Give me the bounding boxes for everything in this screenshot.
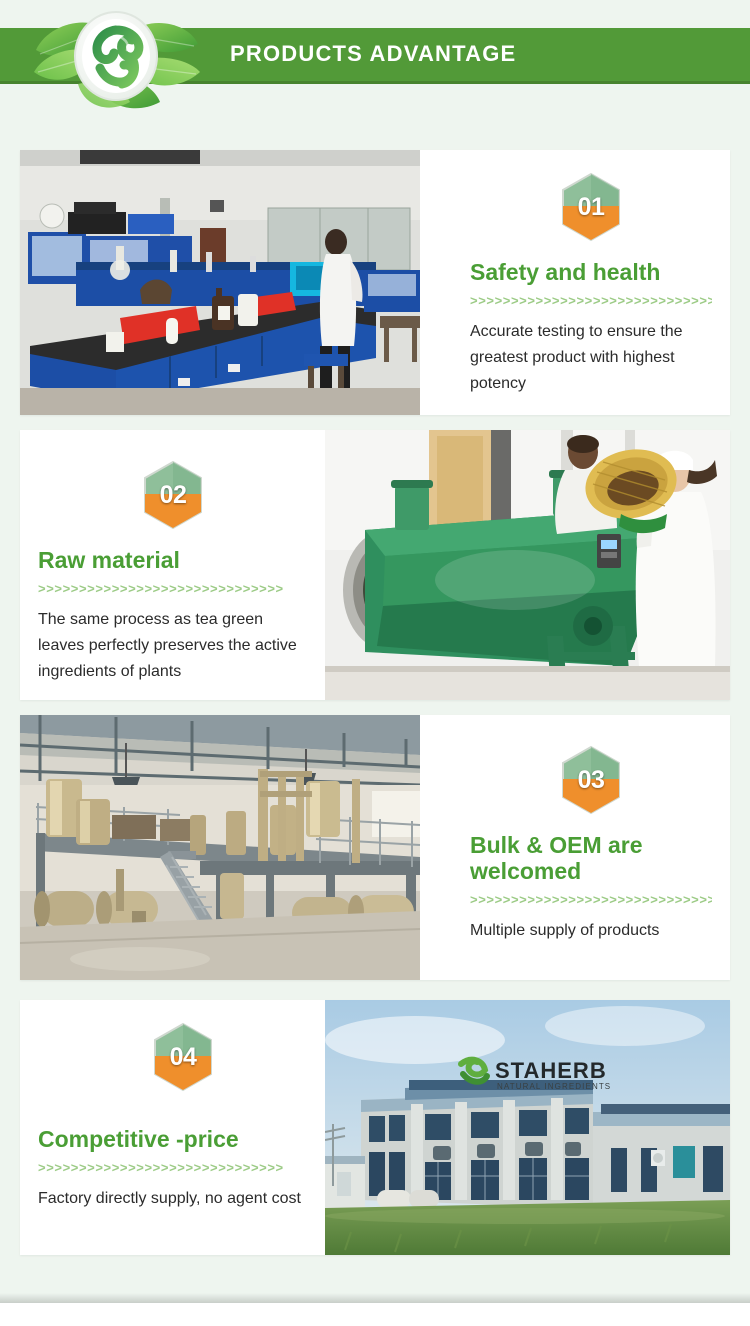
tea-roasting-machine-photo <box>325 430 730 700</box>
laboratory-testing-photo <box>20 150 420 415</box>
advantage-row-4: STAHERB NATURAL INGREDIENTS <box>20 1000 730 1255</box>
advantage-panel-2: 02 Raw material >>>>>>>>>>>>>>>>>>>>>>>>… <box>20 430 325 685</box>
advantage-body-3: Multiple supply of products <box>470 918 712 944</box>
step-badge-1: 01 <box>560 172 622 242</box>
step-number-2: 02 <box>142 460 204 530</box>
advantage-title-3: Bulk & OEM are welcomed <box>470 832 712 884</box>
advantage-title-4: Competitive -price <box>38 1126 305 1152</box>
extraction-workshop-photo <box>20 715 420 980</box>
advantage-panel-4: 04 Competitive -price >>>>>>>>>>>>>>>>>>… <box>20 1000 325 1212</box>
staherb-leaf-logo <box>28 6 218 116</box>
svg-text:NATURAL INGREDIENTS: NATURAL INGREDIENTS <box>497 1082 611 1091</box>
step-badge-4: 04 <box>152 1022 214 1092</box>
advantage-body-1: Accurate testing to ensure the greatest … <box>470 319 712 397</box>
svg-text:STAHERB: STAHERB <box>495 1058 607 1083</box>
advantage-card-4: STAHERB NATURAL INGREDIENTS <box>20 1000 730 1255</box>
step-number-1: 01 <box>560 172 622 242</box>
step-badge-2: 02 <box>142 460 204 530</box>
chevron-divider-3: >>>>>>>>>>>>>>>>>>>>>>>>>>>>>> <box>470 893 712 906</box>
step-number-3: 03 <box>560 745 622 815</box>
chevron-divider-2: >>>>>>>>>>>>>>>>>>>>>>>>>>>>>> <box>38 582 305 595</box>
chevron-divider-1: >>>>>>>>>>>>>>>>>>>>>>>>>>>>>> <box>470 294 712 307</box>
page-header: PRODUCTS ADVANTAGE <box>0 0 750 118</box>
advantage-row-2: 02 Raw material >>>>>>>>>>>>>>>>>>>>>>>>… <box>20 430 730 700</box>
advantage-panel-3: 03 Bulk & OEM are welcomed >>>>>>>>>>>>>… <box>440 715 730 944</box>
factory-building-photo: STAHERB NATURAL INGREDIENTS <box>325 1000 730 1255</box>
advantage-row-1: 01 Safety and health >>>>>>>>>>>>>>>>>>>… <box>20 150 730 415</box>
advantage-title-2: Raw material <box>38 547 305 573</box>
step-number-4: 04 <box>152 1022 214 1092</box>
chevron-divider-4: >>>>>>>>>>>>>>>>>>>>>>>>>>>>>> <box>38 1161 305 1174</box>
advantage-card-3: 03 Bulk & OEM are welcomed >>>>>>>>>>>>>… <box>20 715 730 980</box>
advantage-row-3: 03 Bulk & OEM are welcomed >>>>>>>>>>>>>… <box>20 715 730 980</box>
advantage-body-4: Factory directly supply, no agent cost <box>38 1186 305 1212</box>
page-title: PRODUCTS ADVANTAGE <box>230 41 516 67</box>
advantage-card-2: 02 Raw material >>>>>>>>>>>>>>>>>>>>>>>>… <box>20 430 730 700</box>
advantage-card-1: 01 Safety and health >>>>>>>>>>>>>>>>>>>… <box>20 150 730 415</box>
advantage-panel-1: 01 Safety and health >>>>>>>>>>>>>>>>>>>… <box>440 150 730 397</box>
products-advantage-page: PRODUCTS ADVANTAGE <box>0 0 750 1303</box>
advantage-title-1: Safety and health <box>470 259 712 285</box>
advantage-body-2: The same process as tea green leaves per… <box>38 607 305 685</box>
step-badge-3: 03 <box>560 745 622 815</box>
